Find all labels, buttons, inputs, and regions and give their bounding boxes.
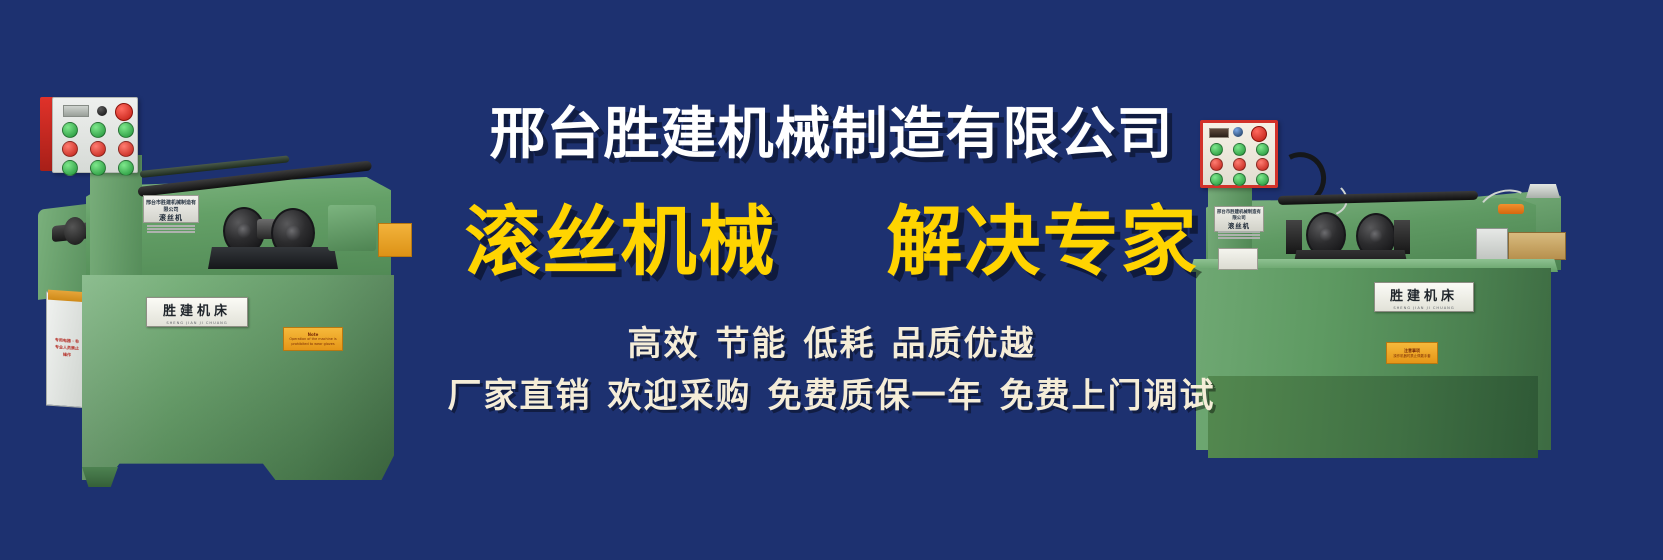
machine-right-cable-clip [1498,204,1524,214]
machine-left-foot [82,467,118,487]
panel-button [62,160,78,176]
panel-button [118,122,134,138]
machine-left-control-panel [52,97,138,173]
machine-right-warning-text: 操作机器时禁止佩戴手套 [1391,354,1432,359]
subtitle-1-item: 低耗 [804,324,876,364]
selector-knob-icon [97,106,107,116]
panel-button [1256,143,1269,156]
machine-right-panel-display [1209,128,1229,138]
emergency-stop-icon [115,103,133,121]
machine-left-warning-label: Note Operation of the machine is prohibi… [283,327,343,351]
panel-button [1233,143,1246,156]
panel-button [90,141,106,157]
panel-button [1233,158,1246,171]
panel-button [1233,173,1246,186]
machine-right-top-fixture [1526,184,1560,198]
machine-right-spec-label [1218,248,1258,270]
machine-left-brand-plate: 胜建机床 SHENG JIAN JI CHUANG [146,297,248,327]
machine-left-nameplate-rows [147,225,195,233]
selector-knob-icon [1233,127,1243,137]
promotional-banner: 专用电器 · 非专业人员禁止操作 邢台市胜建机械制造有限公司 滚丝机 胜建机床 … [0,0,1663,560]
machine-left-nameplate-company: 邢台市胜建机械制造有限公司 [144,199,198,213]
machine-right-clamp-left [1286,220,1302,254]
machine-right-brand-plate: 胜建机床 SHENG JIAN JI CHUANG [1374,282,1474,312]
subtitle-1-item: 高效 [628,324,700,364]
machine-left-shaft-cap [64,217,86,245]
machine-right-clamp-right [1394,220,1410,254]
panel-button [118,141,134,157]
subtitle-1-item: 节能 [716,324,788,364]
subtitle-1-item: 品质优越 [892,324,1036,364]
panel-button [62,141,78,157]
machine-left-cabinet-label: 专用电器 · 非专业人员禁止操作 [54,336,80,359]
machine-left-brand-chinese: 胜建机床 [163,300,231,319]
panel-button [1256,173,1269,186]
machine-right-warning-label: 注意事项 操作机器时禁止佩戴手套 [1386,342,1438,364]
machine-right-nameplate-rows [1218,231,1260,239]
panel-button [1210,143,1223,156]
machine-right-copper-plate [1508,232,1566,260]
machine-left-roller-base [208,247,338,269]
subtitle-2-item: 欢迎采购 [608,376,752,416]
machine-right-nameplate-company: 邢台市胜建机械制造有限公司 [1215,209,1263,221]
emergency-stop-icon [1251,126,1267,142]
machine-right-button-grid [1210,143,1267,184]
panel-button [1210,173,1223,186]
machine-right-control-panel [1200,120,1278,188]
panel-button [118,160,134,176]
machine-left-side-warning-label [378,223,412,257]
machine-photo-left: 专用电器 · 非专业人员禁止操作 邢台市胜建机械制造有限公司 滚丝机 胜建机床 … [18,95,418,485]
machine-right-nameplate-model: 滚丝机 [1215,221,1263,230]
panel-button [1210,158,1223,171]
machine-left-warning-text: Operation of the machine is prohibited t… [284,337,342,347]
machine-right-lower-body [1208,376,1538,458]
machine-left-nameplate-model: 滚丝机 [144,213,198,223]
headline-left: 滚丝机械 [465,197,777,286]
subtitle-2-item: 免费质保一年 [768,376,984,416]
machine-photo-right: 邢台市胜建机械制造有限公司 滚丝机 胜建机床 SHENG JIAN JI CHU… [1178,120,1648,450]
panel-button [62,122,78,138]
machine-right-nameplate: 邢台市胜建机械制造有限公司 滚丝机 [1214,206,1264,232]
machine-left-panel-display [63,105,89,117]
machine-left-brand-pinyin: SHENG JIAN JI CHUANG [166,321,227,325]
headline-right: 解决专家 [887,197,1199,286]
panel-button [1256,158,1269,171]
panel-button [90,122,106,138]
machine-left-motor-housing [328,205,376,251]
machine-right-brand-chinese: 胜建机床 [1390,285,1458,304]
subtitle-2-item: 厂家直销 [448,376,592,416]
machine-right-brand-pinyin: SHENG JIAN JI CHUANG [1393,306,1454,310]
panel-button [90,160,106,176]
machine-left-button-grid [62,122,132,174]
machine-left-nameplate: 邢台市胜建机械制造有限公司 滚丝机 [143,195,199,223]
